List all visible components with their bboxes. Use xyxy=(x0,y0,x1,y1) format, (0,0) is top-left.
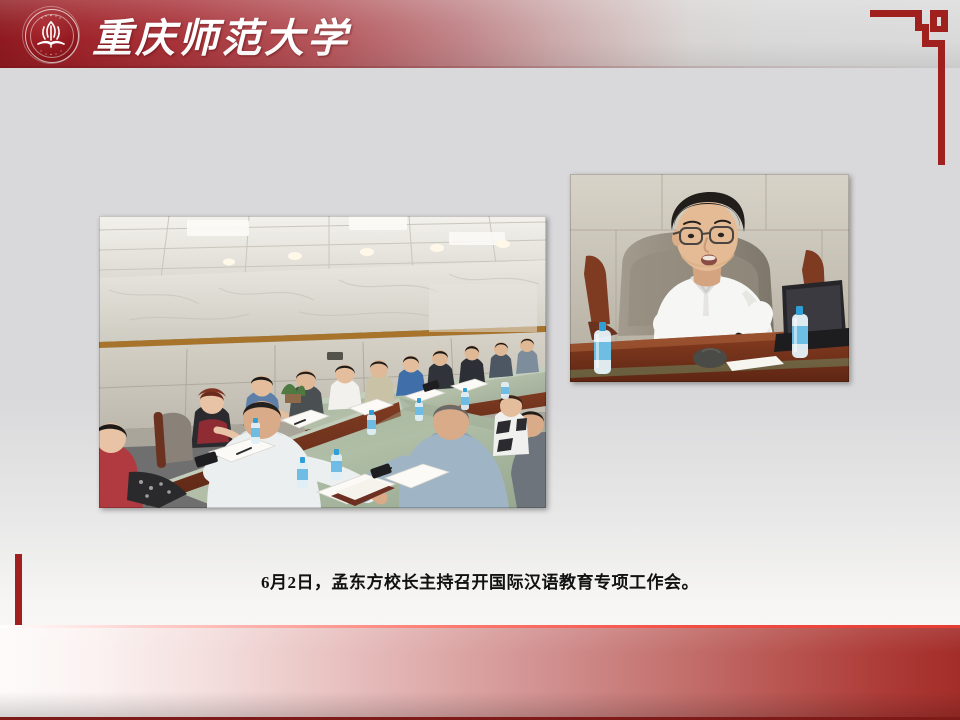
presentation-slide: 重庆师范大学 xyxy=(0,0,960,720)
meeting-room-photo xyxy=(99,216,546,508)
meeting-room-photo-artwork xyxy=(99,216,546,508)
university-name-title: 重庆师范大学 xyxy=(92,4,350,66)
header-bottom-rule xyxy=(0,66,960,68)
speaker-portrait-artwork xyxy=(570,174,849,382)
slide-header-banner: 重庆师范大学 xyxy=(0,0,960,68)
emblem-artwork-icon xyxy=(22,6,80,64)
corner-bracket-top-right-icon xyxy=(870,10,948,165)
ornamental-corner-bracket-top-right xyxy=(870,10,948,170)
slide-caption: 6月2日，孟东方校长主持召开国际汉语教育专项工作会。 xyxy=(0,568,960,593)
speaker-portrait-photo xyxy=(570,174,849,382)
footer-shade-overlay xyxy=(0,625,960,720)
university-emblem-icon xyxy=(22,6,80,64)
